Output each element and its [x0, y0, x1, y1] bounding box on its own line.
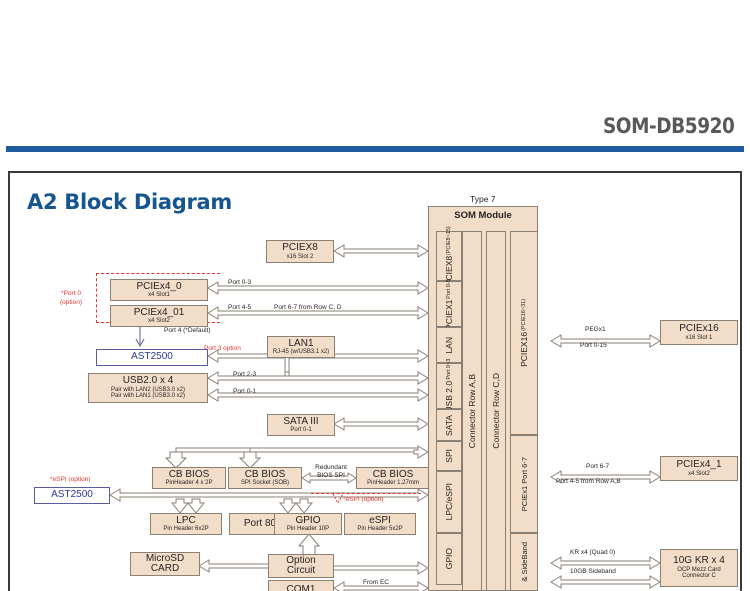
block-10g-kr-x4-sub2: Connector C — [682, 573, 716, 579]
block-pciex8-slot2-title: PCIEX8 — [282, 243, 318, 254]
som-cell-pciex1-port67[interactable]: PCIEx1 Port 6-7 — [510, 435, 538, 533]
som-cell-spi[interactable]: SPI — [436, 441, 462, 471]
block-port80-title: Port 80 — [244, 519, 276, 530]
som-cell-pciex1-label: PCIEX1Port 0-5 — [444, 279, 454, 330]
label-10gb-sideband: 10GB Sideband — [570, 568, 616, 575]
block-pciex4-1-sub: x4 Slot2 — [688, 471, 710, 477]
som-cell-sata-label: SATA — [444, 415, 454, 436]
som-cell-pciex1-port67-label: PCIEx1 Port 6-7 — [520, 457, 529, 511]
block-lan1-title: LAN1 — [288, 339, 313, 350]
som-cell-pciex16-label: PCIEX16(PCIE16~31) — [519, 299, 529, 367]
block-lan1[interactable]: LAN1 RJ-45 (w/USB3.1 x2) — [267, 336, 335, 358]
som-type-label: Type 7 — [470, 194, 496, 204]
som-cell-pciex8[interactable]: PCIEX8(PCIE8~15) — [436, 231, 462, 281]
block-pciex4-1[interactable]: PCIEx4_1 x4 Slot2 — [660, 456, 738, 481]
block-sata3-sub: Port 0-1 — [290, 427, 311, 433]
annotation-port0-option-line1: *Port 0 — [48, 290, 94, 297]
block-pciex8-slot2[interactable]: PCIEX8 x16 Slot 2 — [266, 240, 334, 263]
block-cb-bios-socket[interactable]: CB BIOS SPI Socket (SOB) — [228, 467, 302, 489]
som-cell-lpc-espi-label: LPC/eSPI — [444, 483, 454, 520]
label-port-0-15: Port 0-15 — [580, 342, 607, 349]
header-divider — [6, 146, 744, 152]
som-cell-pciex16[interactable]: PCIEX16(PCIE16~31) — [510, 231, 538, 435]
block-usb20-x4[interactable]: USB2.0 x 4 Pair with LAN2 (USB3.0 x2) Pa… — [88, 373, 208, 403]
label-pegx1: PEGx1 — [585, 326, 606, 333]
label-port-4-5-rowab: Port 4-5 from Row A,B — [556, 478, 621, 485]
block-espi-sub: Pin Header 5x2P — [357, 526, 402, 532]
som-cell-sata[interactable]: SATA — [436, 409, 462, 441]
annotation-redundant-line1: Redundant — [306, 464, 356, 471]
block-pciex4-0-title: PCIEx4_0 — [136, 282, 181, 293]
som-cell-pciex8-label: PCIEX8(PCIE8~15) — [444, 226, 454, 286]
connector-row-ab-label: Connector Row A,B — [467, 374, 477, 448]
block-sata3[interactable]: SATA III Port 0-1 — [267, 414, 335, 436]
block-gpio-header[interactable]: GPIO Pin Header 10P — [274, 513, 342, 535]
som-cell-pciex1[interactable]: PCIEX1Port 0-5 — [436, 281, 462, 327]
connector-row-ab: Connector Row A,B — [462, 231, 482, 591]
page-title: A2 Block Diagram — [27, 190, 232, 214]
block-option-circuit-sub: Circuit — [287, 566, 315, 577]
block-lpc-sub: Pin Header 6x2P — [163, 526, 208, 532]
connector-row-cd: Connector Row C,D — [486, 231, 506, 591]
block-pciex16-slot1-sub: x16 Slot 1 — [686, 335, 713, 341]
block-pciex4-0-sub: x4 Slot1 — [148, 292, 170, 298]
block-espi[interactable]: eSPI Pin Header 5x2P — [344, 513, 416, 535]
label-port-2-3: Port 2-3 — [233, 371, 256, 378]
som-cell-lan[interactable]: LAN — [436, 327, 462, 363]
block-10g-kr-x4[interactable]: 10G KR x 4 OCP Mezz Card Connector C — [660, 549, 738, 587]
block-cb-bios-pinheader[interactable]: CB BIOS PinHeader 4 x 2P — [152, 467, 226, 489]
block-cb-bios-127mm[interactable]: CB BIOS PinHeader 1.27mm — [356, 467, 430, 489]
annotation-redundant-line2: BIOS SPI — [306, 472, 356, 479]
label-port-6-7: Port 6-7 — [586, 463, 609, 470]
block-sata3-title: SATA III — [283, 417, 318, 428]
block-cb-bios-127mm-sub: PinHeader 1.27mm — [367, 480, 419, 486]
label-port-4-5: Port 4-5 — [228, 304, 251, 311]
block-ast2500-top-title: AST2500 — [131, 352, 173, 363]
block-com1-title: COM1 — [287, 585, 316, 591]
som-cell-spi-label: SPI — [444, 449, 454, 463]
block-pciex4-1-title: PCIEx4_1 — [676, 460, 721, 471]
label-port-0-1: Port 0-1 — [233, 388, 256, 395]
som-cell-lan-label: LAN — [444, 337, 454, 354]
block-ast2500-top[interactable]: AST2500 — [96, 349, 208, 366]
block-cb-bios-socket-title: CB BIOS — [245, 470, 286, 481]
block-pciex4-01[interactable]: PCIEx4_01 x4 Slot2 — [110, 305, 208, 327]
block-gpio-header-title: GPIO — [295, 516, 320, 527]
annotation-espi-option-left: *eSPI (option) — [50, 476, 90, 483]
block-pciex4-01-sub: x4 Slot2 — [148, 318, 170, 324]
som-cell-sideband[interactable]: & SideBand — [510, 533, 538, 591]
block-pciex4-0[interactable]: PCIEx4_0 x4 Slot1 — [110, 279, 208, 301]
block-pciex4-01-title: PCIEx4_01 — [134, 308, 185, 319]
annotation-port0-option-line2: (option) — [48, 299, 94, 306]
som-module-title: SOM Module — [429, 210, 537, 221]
block-pciex8-slot2-sub: x16 Slot 2 — [287, 254, 314, 260]
label-port-6-7-rowcd: Port 6-7 from Row C, D — [274, 304, 342, 311]
annotation-espi-option-mid: *eSPI (option) — [343, 496, 383, 503]
block-option-circuit[interactable]: Option Circuit — [268, 554, 334, 578]
block-pciex16-slot1[interactable]: PCIEx16 x16 Slot 1 — [660, 320, 738, 345]
screenshot-root: SOM-DB5920 A2 Block Diagram .aw { fill:#… — [0, 0, 750, 591]
block-lpc[interactable]: LPC Pin Header 6x2P — [150, 513, 222, 535]
label-from-ec: From EC — [363, 579, 389, 586]
som-cell-gpio[interactable]: GPIO — [436, 533, 462, 585]
block-espi-title: eSPI — [369, 516, 391, 527]
som-cell-usb20[interactable]: USB 2.0Port 0~3 — [436, 363, 462, 409]
block-usb20-x4-sub2: Pair with LAN1 (USB3.0 x2) — [111, 393, 185, 399]
label-kr-x4-quad0: KR x4 (Quad 0) — [570, 549, 615, 556]
block-ast2500-bottom-title: AST2500 — [51, 490, 93, 501]
block-microsd-card[interactable]: MicroSD CARD — [130, 552, 200, 576]
block-10g-kr-x4-title: 10G KR x 4 — [673, 556, 725, 567]
label-port-4-default: Port 4 (*Default) — [164, 327, 211, 334]
block-cb-bios-pinheader-title: CB BIOS — [169, 470, 210, 481]
som-cell-lpc-espi[interactable]: LPC/eSPI — [436, 471, 462, 533]
block-cb-bios-socket-sub: SPI Socket (SOB) — [241, 480, 289, 486]
connector-row-cd-label: Connector Row C,D — [491, 373, 501, 449]
block-cb-bios-pinheader-sub: PinHeader 4 x 2P — [165, 480, 212, 486]
espi-option-dashed-line — [311, 493, 421, 494]
block-usb20-x4-title: USB2.0 x 4 — [123, 376, 174, 387]
label-port-0-3: Port 0-3 — [228, 279, 251, 286]
block-microsd-card-sub: CARD — [151, 564, 179, 575]
block-cb-bios-127mm-title: CB BIOS — [373, 470, 414, 481]
block-ast2500-bottom[interactable]: AST2500 — [34, 487, 110, 504]
annotation-port3-option: Port 3 option — [204, 345, 241, 352]
som-cell-sideband-label: & SideBand — [520, 542, 529, 582]
block-gpio-header-sub: Pin Header 10P — [287, 526, 329, 532]
block-com1[interactable]: COM1 — [268, 580, 334, 591]
block-lan1-sub: RJ-45 (w/USB3.1 x2) — [273, 349, 329, 355]
som-cell-gpio-label: GPIO — [444, 548, 454, 569]
block-lpc-title: LPC — [176, 516, 195, 527]
block-pciex16-slot1-title: PCIEx16 — [679, 324, 718, 335]
som-cell-usb20-label: USB 2.0Port 0~3 — [444, 359, 454, 413]
document-title: SOM-DB5920 — [602, 114, 734, 138]
